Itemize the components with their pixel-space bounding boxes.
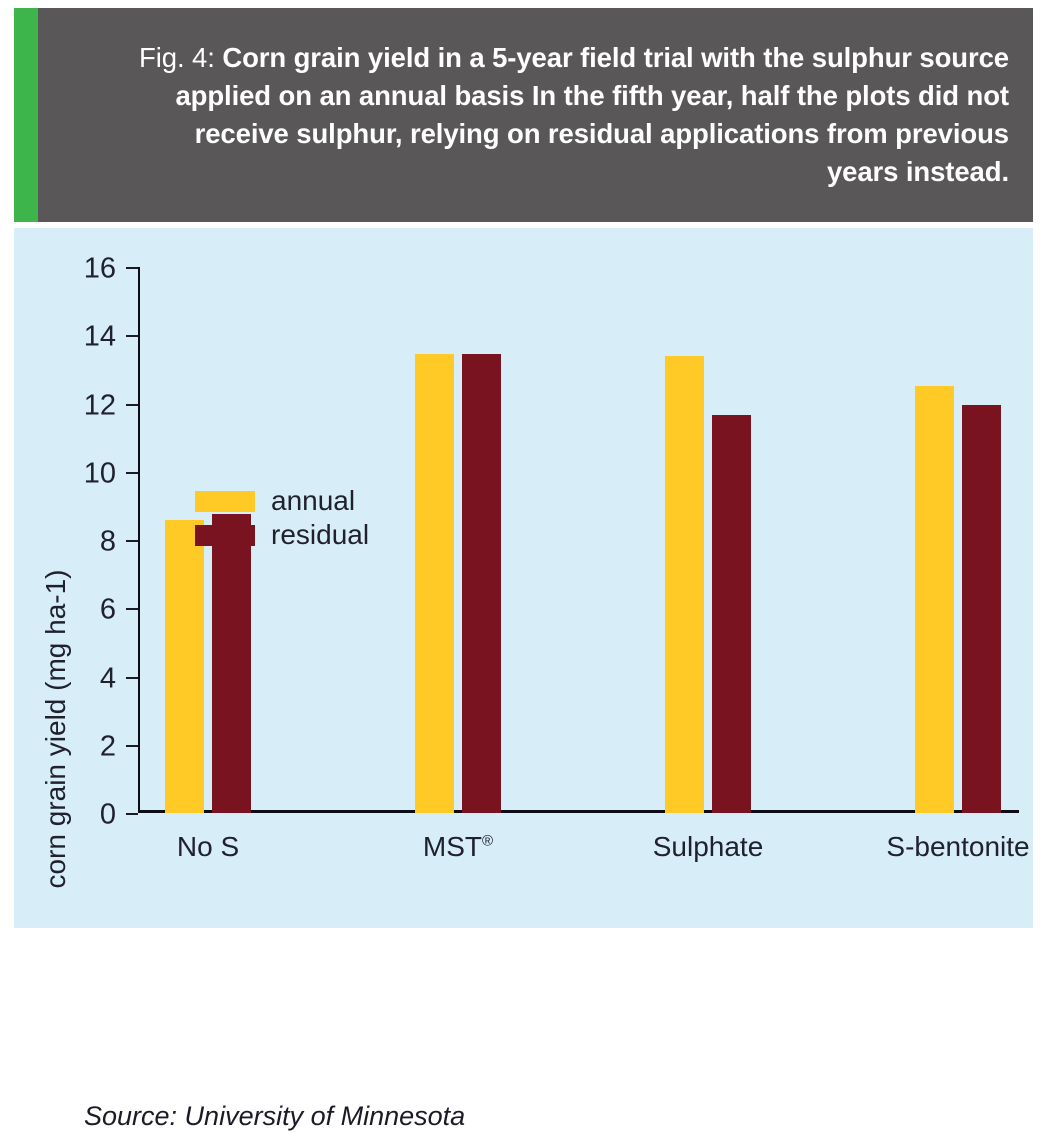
bar-annual-no-s <box>165 520 204 813</box>
bar-residual-sulphate <box>712 415 751 813</box>
bar-group: Sulphate <box>665 267 751 813</box>
chart-legend: annualresidual <box>195 487 369 549</box>
x-axis-tick-label: MST® <box>423 831 493 863</box>
y-axis-tick-label: 6 <box>100 594 116 627</box>
y-axis-tick: 10 <box>126 472 138 474</box>
legend-swatch-annual <box>195 491 255 512</box>
y-axis-tick: 6 <box>126 608 138 610</box>
chart-panel: corn grain yield (mg ha-1) 0246810121416… <box>14 228 1033 928</box>
y-axis-tick-label: 12 <box>84 389 116 422</box>
bar-annual-mst- <box>415 354 454 813</box>
y-axis-tick: 8 <box>126 540 138 542</box>
bar-residual-no-s <box>212 514 251 813</box>
y-axis-tick-label: 2 <box>100 730 116 763</box>
y-axis-tick-label: 8 <box>100 526 116 559</box>
y-axis-tick: 16 <box>126 267 138 269</box>
x-axis-line <box>138 810 1019 813</box>
y-axis-line <box>138 267 140 813</box>
y-axis-tick-label: 4 <box>100 662 116 695</box>
y-axis-tick: 0 <box>126 813 138 815</box>
x-axis-tick-label: No S <box>177 831 239 863</box>
figure-container: Fig. 4: Corn grain yield in a 5-year fie… <box>0 0 1047 959</box>
bar-annual-sulphate <box>665 356 704 813</box>
y-axis-tick: 4 <box>126 677 138 679</box>
caption-accent-stripe <box>14 8 38 222</box>
y-axis-tick: 14 <box>126 335 138 337</box>
figure-caption-bar: Fig. 4: Corn grain yield in a 5-year fie… <box>14 8 1033 222</box>
caption-text-wrap: Fig. 4: Corn grain yield in a 5-year fie… <box>38 8 1033 222</box>
bar-group: S-bentonite <box>915 267 1001 813</box>
figure-caption-text: Fig. 4: Corn grain yield in a 5-year fie… <box>129 39 1009 192</box>
y-axis-tick: 12 <box>126 404 138 406</box>
legend-item: residual <box>195 521 369 549</box>
y-axis-tick-label: 0 <box>100 799 116 832</box>
figure-number-label: Fig. 4: <box>139 42 215 73</box>
y-axis-tick: 2 <box>126 745 138 747</box>
x-axis-tick-label: Sulphate <box>653 831 764 863</box>
bar-residual-mst- <box>462 354 501 813</box>
source-note: Source: University of Minnesota <box>84 1101 465 1132</box>
legend-swatch-residual <box>195 525 255 546</box>
y-axis-tick-label: 16 <box>84 253 116 286</box>
y-axis-tick-label: 14 <box>84 321 116 354</box>
bar-residual-s-bentonite <box>962 405 1001 813</box>
legend-label-residual: residual <box>271 521 369 549</box>
legend-label-annual: annual <box>271 487 355 515</box>
y-axis-tick-label: 10 <box>84 457 116 490</box>
bar-group: MST® <box>415 267 501 813</box>
figure-caption-body: Corn grain yield in a 5-year field trial… <box>175 42 1009 188</box>
bar-annual-s-bentonite <box>915 386 954 813</box>
legend-item: annual <box>195 487 369 515</box>
y-axis-title: corn grain yield (mg ha-1) <box>36 456 76 1002</box>
x-axis-tick-label: S-bentonite <box>886 831 1029 863</box>
